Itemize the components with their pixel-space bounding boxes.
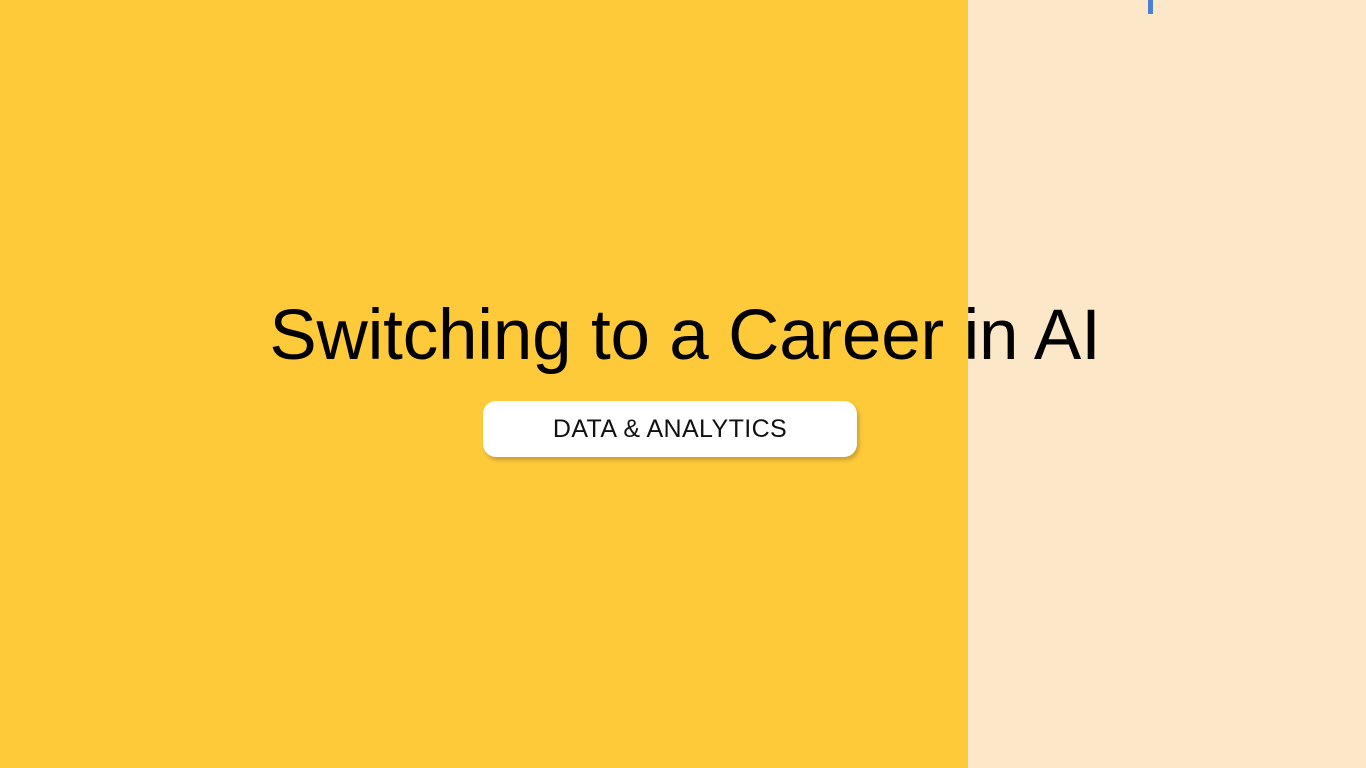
category-pill-button-label: DATA & ANALYTICS: [553, 415, 787, 444]
category-pill-button[interactable]: DATA & ANALYTICS: [483, 401, 857, 457]
primary-color-panel: [0, 0, 968, 768]
text-caret-icon[interactable]: [1148, 0, 1153, 14]
slide-canvas: Switching to a Career in AI DATA & ANALY…: [0, 0, 1366, 768]
secondary-color-panel: [968, 0, 1366, 768]
slide-title: Switching to a Career in AI: [2, 294, 1366, 378]
